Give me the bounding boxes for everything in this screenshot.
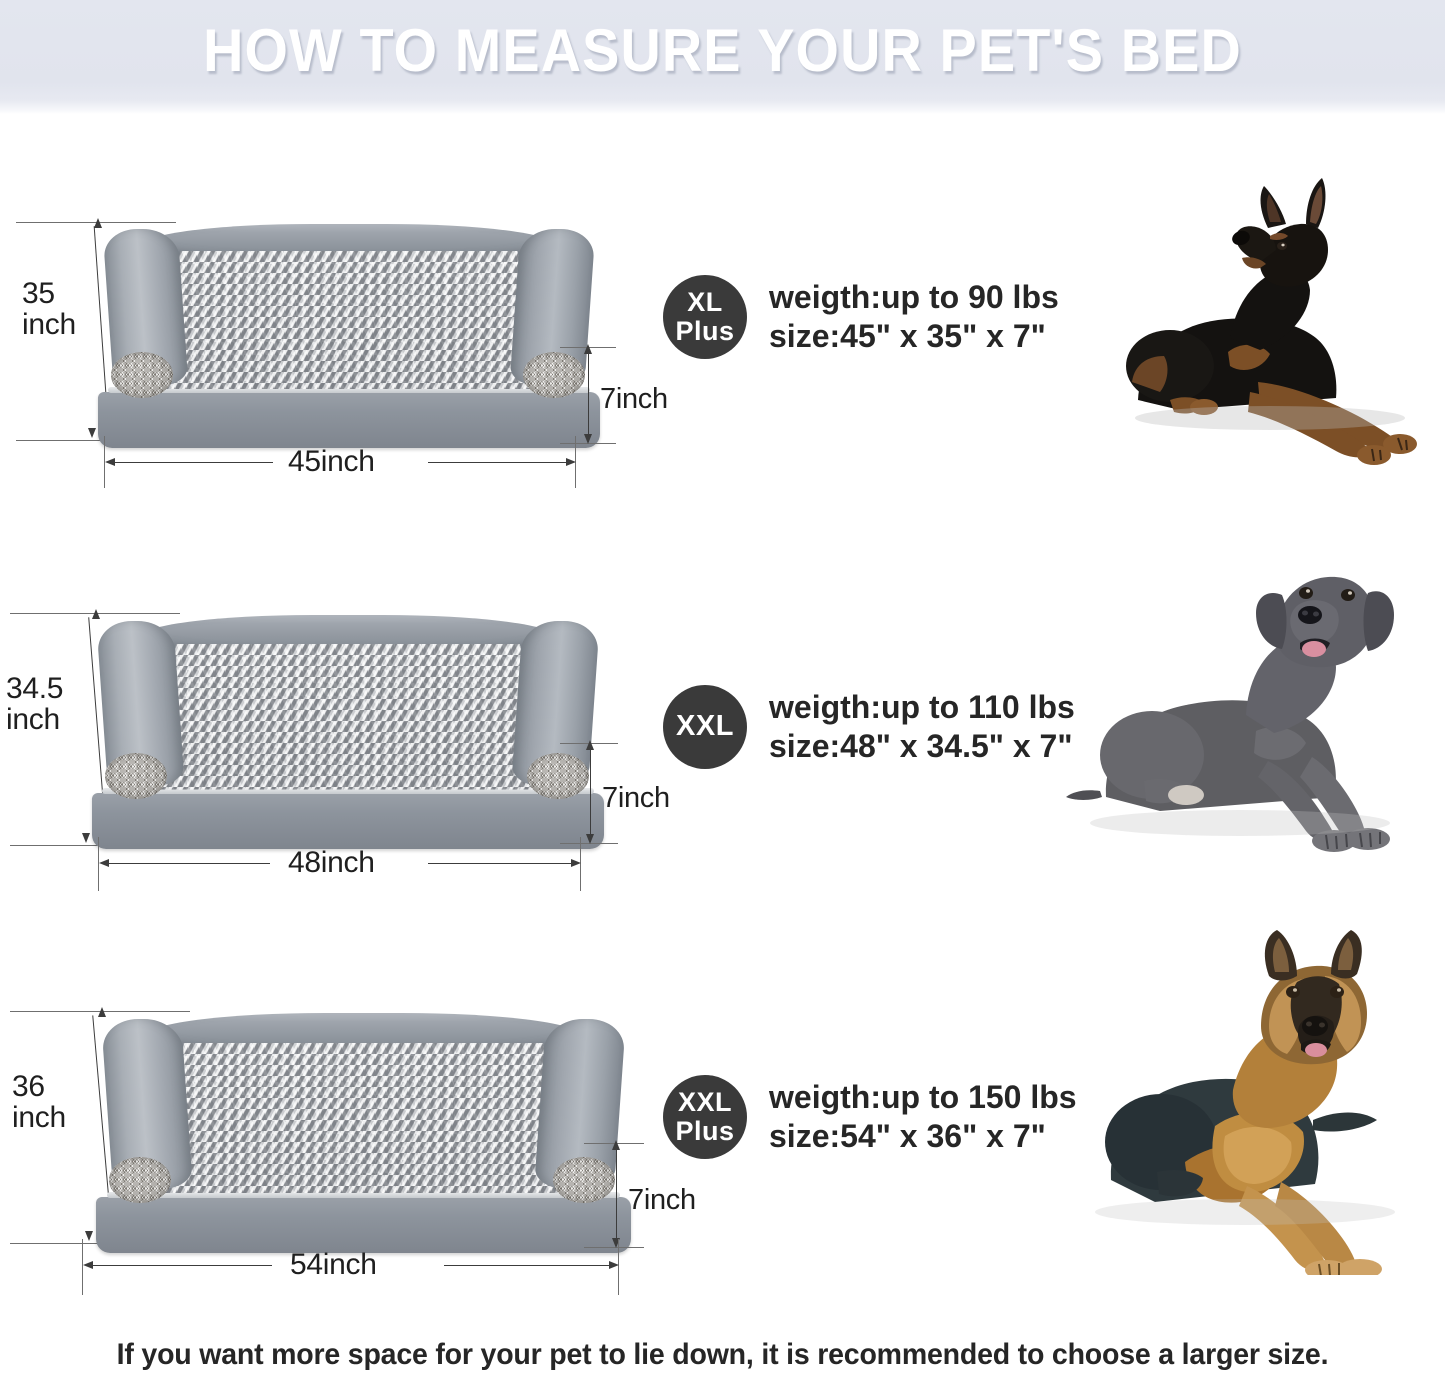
height-arrow-bottom (586, 834, 594, 844)
size-badge-xxl-plus: XXL Plus (663, 1075, 747, 1159)
dog-photo-doberman (1110, 170, 1440, 470)
weight-text: weigth:up to 110 lbs (769, 688, 1075, 727)
height-arrow-top (586, 740, 594, 750)
width-arrow-right (566, 458, 576, 466)
width-arrow-right (571, 859, 581, 867)
size-row-xxl-plus: 36 inch 7inch 54inch XXL (0, 935, 1445, 1305)
badge-line-1: XXL (676, 712, 734, 741)
great-dane-illustration (1060, 545, 1440, 855)
height-label: 7inch (602, 783, 670, 813)
badge-line-2: Plus (675, 318, 734, 345)
pom-pom-left (105, 753, 167, 799)
width-label: 45inch (288, 446, 375, 477)
size-row-xl-plus: 35 inch 7inch 45inch (0, 160, 1445, 505)
bed-deck (98, 220, 600, 402)
pom-pom-left (111, 352, 173, 398)
bed-graphic (96, 1009, 631, 1253)
width-label: 54inch (290, 1249, 377, 1280)
depth-arrow-bottom (82, 833, 90, 843)
bed-illustration-xxl-plus: 36 inch 7inch 54inch (0, 935, 700, 1305)
depth-arrow-bottom (85, 1231, 93, 1241)
german-shepherd-illustration (1065, 930, 1445, 1275)
bed-illustration-xl-plus: 35 inch 7inch 45inch (0, 160, 700, 505)
width-arrow-right (609, 1261, 619, 1269)
height-dimension-line (588, 350, 589, 442)
weight-text: weigth:up to 150 lbs (769, 1078, 1077, 1117)
bed-deck (96, 1009, 631, 1207)
badge-line-1: XL (687, 289, 723, 316)
pom-pom-left (109, 1157, 171, 1203)
depth-label: 35 inch (22, 278, 76, 340)
height-arrow-bottom (584, 434, 592, 444)
spec-text-xxl-plus: weigth:up to 150 lbs size:54" x 36" x 7" (769, 1078, 1077, 1157)
bed-graphic (98, 220, 600, 448)
size-row-xxl: 34.5 inch 7inch 48inch XXL (0, 545, 1445, 900)
height-dimension-line (590, 746, 591, 842)
width-dimension-line-right (428, 863, 578, 864)
bed-illustration-xxl: 34.5 inch 7inch 48inch (0, 545, 700, 900)
width-dimension-line-right (444, 1265, 616, 1266)
width-dimension-line-left (108, 462, 273, 463)
dog-photo-great-dane (1060, 545, 1440, 855)
size-text: size:54" x 36" x 7" (769, 1117, 1077, 1156)
footer-note: If you want more space for your pet to l… (36, 1338, 1409, 1372)
pom-pom-right (527, 753, 589, 799)
bed-graphic (92, 611, 604, 849)
size-text: size:45" x 35" x 7" (769, 317, 1059, 356)
width-dimension-line-left (102, 863, 270, 864)
weight-text: weigth:up to 90 lbs (769, 278, 1059, 317)
width-arrow-left (83, 1261, 93, 1269)
size-text: size:48" x 34.5" x 7" (769, 727, 1075, 766)
pom-pom-right (523, 352, 585, 398)
width-label: 48inch (288, 847, 375, 878)
mattress-surface (153, 251, 545, 389)
spec-text-xxl: weigth:up to 110 lbs size:48" x 34.5" x … (769, 688, 1075, 767)
height-label: 7inch (600, 384, 668, 414)
width-arrow-left (99, 859, 109, 867)
pom-pom-right (553, 1157, 615, 1203)
badge-line-2: Plus (675, 1118, 734, 1145)
depth-arrow-bottom (88, 428, 96, 438)
spec-text-xl-plus: weigth:up to 90 lbs size:45" x 35" x 7" (769, 278, 1059, 357)
height-arrow-top (584, 344, 592, 354)
height-label: 7inch (628, 1185, 696, 1215)
spec-xxl: XXL weigth:up to 110 lbs size:48" x 34.5… (663, 685, 1075, 769)
height-arrow-top (612, 1140, 620, 1150)
width-arrow-left (105, 458, 115, 466)
mattress-surface (155, 1043, 572, 1193)
dog-photo-german-shepherd (1065, 930, 1445, 1275)
doberman-illustration (1110, 170, 1440, 470)
spec-xxl-plus: XXL Plus weigth:up to 150 lbs size:54" x… (663, 1075, 1077, 1159)
badge-line-1: XXL (678, 1089, 732, 1116)
page-title: HOW TO MEASURE YOUR PET'S BED (51, 8, 1395, 94)
mattress-surface (148, 644, 547, 790)
depth-label: 36 inch (12, 1071, 66, 1133)
bed-deck (92, 611, 604, 803)
height-dimension-line (616, 1146, 617, 1246)
depth-label: 34.5 inch (6, 673, 63, 735)
width-dimension-line-right (428, 462, 572, 463)
size-badge-xl-plus: XL Plus (663, 275, 747, 359)
size-badge-xxl: XXL (663, 685, 747, 769)
width-dimension-line-left (86, 1265, 272, 1266)
spec-xl-plus: XL Plus weigth:up to 90 lbs size:45" x 3… (663, 275, 1059, 359)
